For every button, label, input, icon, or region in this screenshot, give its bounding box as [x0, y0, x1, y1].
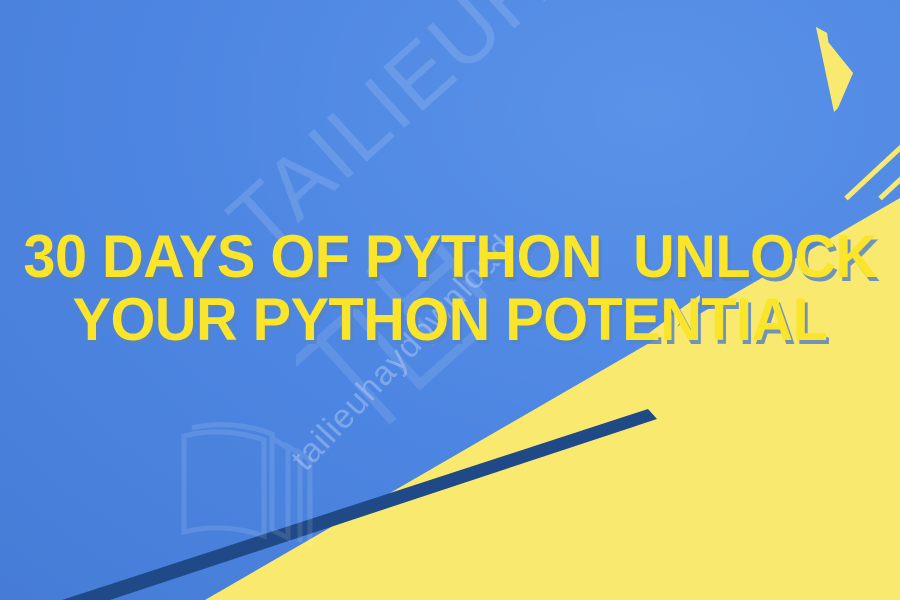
- title-line-2: YOUR PYTHON POTENTIAL: [18, 288, 882, 351]
- title-line-1: 30 DAYS OF PYTHON UNLOCK: [18, 225, 882, 288]
- poster-canvas: TAILIEUHAY tailieuhaydownload 30 DAYS OF…: [0, 0, 900, 600]
- poster-title: 30 DAYS OF PYTHON UNLOCK YOUR PYTHON POT…: [0, 225, 900, 351]
